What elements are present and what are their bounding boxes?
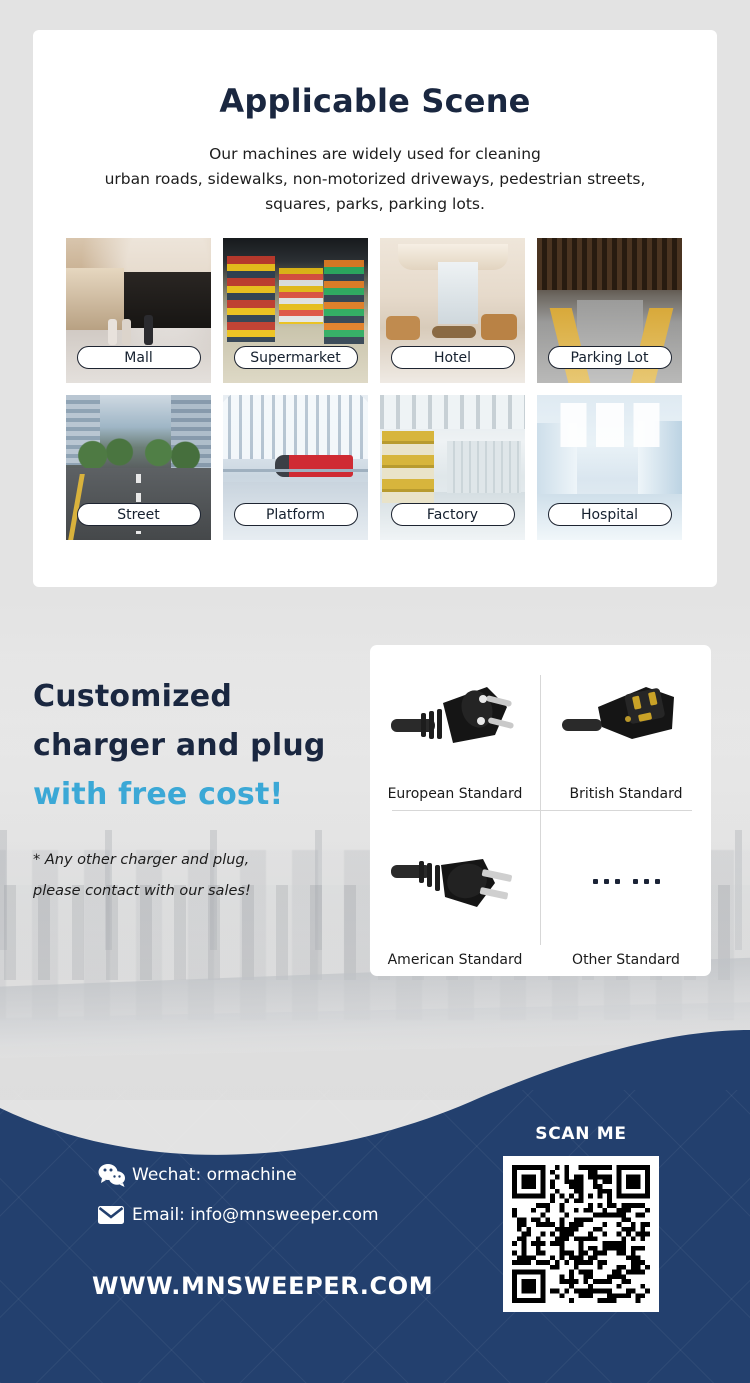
scene-tile-label: Platform (234, 503, 358, 526)
email-row: Email: info@mnsweeper.com (98, 1195, 379, 1235)
scene-tile-grid: Mall Supermarket Hotel Parking Lot (66, 238, 684, 540)
ellipsis-icon (541, 811, 711, 952)
wechat-icon (98, 1163, 132, 1187)
scene-subtitle-line-1: Our machines are widely used for cleanin… (33, 142, 717, 167)
scene-tile-label: Hotel (391, 346, 515, 369)
customized-charger-text-block: Customized charger and plug with free co… (33, 672, 363, 907)
heading-line-1: Customized (33, 672, 363, 721)
plug-label: Other Standard (572, 952, 680, 968)
charger-note: * Any other charger and plug, please con… (33, 845, 363, 907)
wechat-row: Wechat: ormachine (98, 1155, 379, 1195)
scene-tile-mall[interactable]: Mall (66, 238, 211, 383)
scene-subtitle-line-3: squares, parks, parking lots. (33, 192, 717, 217)
scene-subtitle: Our machines are widely used for cleanin… (33, 142, 717, 217)
customized-charger-heading: Customized charger and plug with free co… (33, 672, 363, 819)
scene-tile-supermarket[interactable]: Supermarket (223, 238, 368, 383)
scene-tile-label: Factory (391, 503, 515, 526)
email-text: Email: info@mnsweeper.com (132, 1205, 379, 1225)
british-plug-icon (541, 645, 711, 786)
heading-line-2: charger and plug (33, 721, 363, 770)
charger-note-line-2: please contact with our sales! (33, 876, 363, 907)
scene-tile-label: Mall (77, 346, 201, 369)
plug-standards-panel: European Standard British Standard (370, 645, 711, 976)
plug-cell-european: European Standard (370, 645, 540, 810)
plug-label: European Standard (388, 786, 523, 802)
plug-label: British Standard (570, 786, 683, 802)
plug-label: American Standard (388, 952, 523, 968)
scene-tile-label: Street (77, 503, 201, 526)
applicable-scene-card: Applicable Scene Our machines are widely… (33, 30, 717, 587)
plug-cell-british: British Standard (541, 645, 711, 810)
page-title: Applicable Scene (33, 82, 717, 120)
scan-block: SCAN ME (503, 1124, 659, 1312)
scene-tile-parking-lot[interactable]: Parking Lot (537, 238, 682, 383)
scene-tile-street[interactable]: Street (66, 395, 211, 540)
scene-tile-label: Parking Lot (548, 346, 672, 369)
european-plug-icon (370, 645, 540, 786)
american-plug-icon (370, 811, 540, 952)
plug-cell-other: Other Standard (541, 811, 711, 976)
qr-code[interactable] (503, 1156, 659, 1312)
charger-note-line-1: * Any other charger and plug, (33, 845, 363, 876)
scene-subtitle-line-2: urban roads, sidewalks, non-motorized dr… (33, 167, 717, 192)
envelope-icon (98, 1205, 132, 1225)
contact-block: Wechat: ormachine Email: info@mnsweeper.… (98, 1155, 379, 1235)
scan-me-label: SCAN ME (503, 1124, 659, 1144)
scene-tile-hotel[interactable]: Hotel (380, 238, 525, 383)
scene-tile-factory[interactable]: Factory (380, 395, 525, 540)
scene-tile-label: Supermarket (234, 346, 358, 369)
website-url[interactable]: WWW.MNSWEEPER.COM (92, 1272, 433, 1300)
wechat-text: Wechat: ormachine (132, 1165, 297, 1185)
scene-tile-hospital[interactable]: Hospital (537, 395, 682, 540)
heading-accent-line: with free cost! (33, 770, 363, 819)
scene-tile-label: Hospital (548, 503, 672, 526)
plug-cell-american: American Standard (370, 811, 540, 976)
scene-tile-platform[interactable]: Platform (223, 395, 368, 540)
qr-code-image (512, 1165, 650, 1303)
